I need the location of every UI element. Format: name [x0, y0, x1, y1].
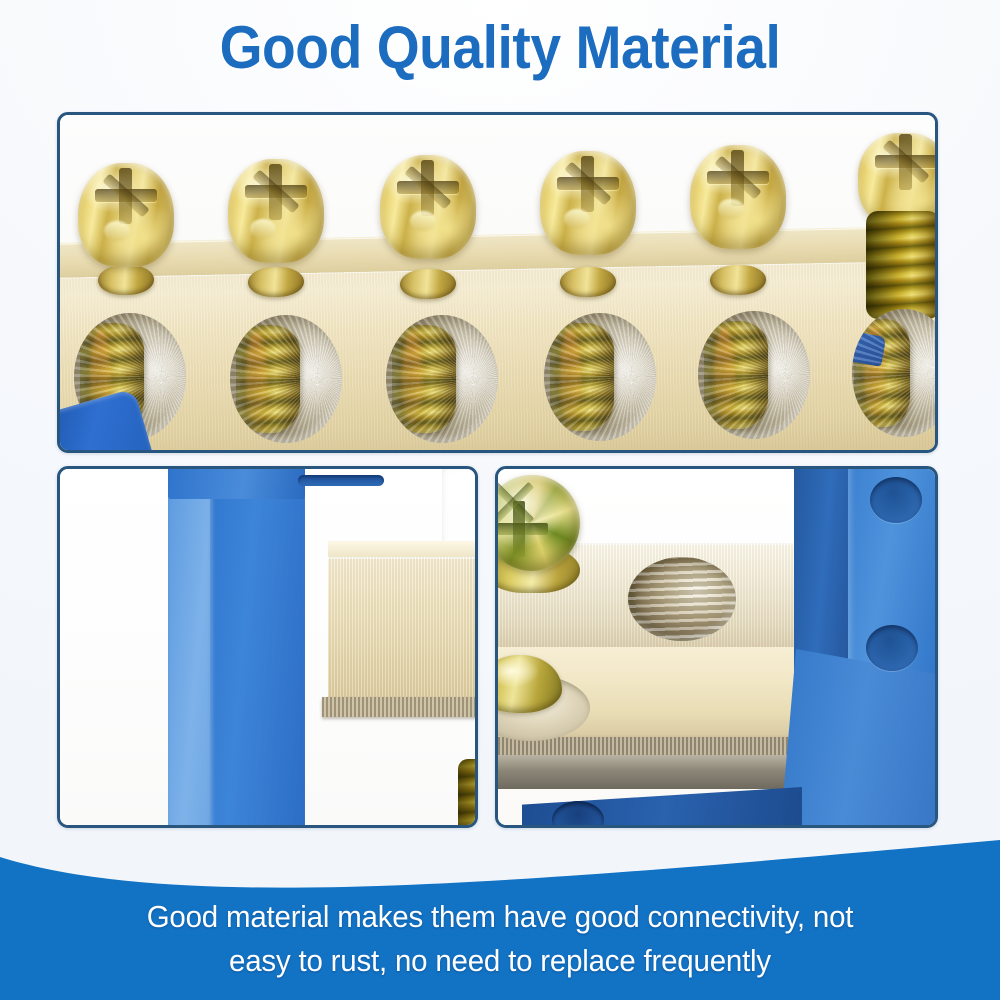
screw-thread-shank [236, 325, 300, 433]
blue-plastic-tower-cap [168, 469, 305, 499]
screw-head [380, 155, 476, 259]
phillips-cross-icon [95, 189, 157, 202]
blue-plastic-chip [852, 329, 886, 367]
screw-neck [560, 267, 617, 298]
bracket-groove [298, 475, 384, 486]
screw-neck [98, 265, 155, 296]
screw-neck [248, 267, 305, 298]
blue-plastic-tower-side [168, 473, 214, 825]
screw-neck [400, 269, 457, 300]
top-product-photo-panel [57, 112, 938, 453]
screw-neck [710, 265, 767, 296]
screw-highlight [250, 219, 276, 239]
brass-bar-face [328, 557, 475, 705]
bottom-left-product-photo-panel [57, 466, 478, 828]
brass-bar-shadow-edge [498, 755, 808, 789]
screw-head [540, 151, 636, 255]
screw-highlight [104, 221, 130, 241]
countersunk-hole [698, 311, 810, 439]
threaded-hole [628, 557, 736, 641]
screw-head [78, 163, 174, 267]
screw-thread-shank [392, 325, 456, 433]
mounting-dimple [870, 477, 922, 523]
footer-caption-line-2: easy to rust, no need to replace frequen… [25, 939, 975, 983]
countersunk-hole [386, 315, 498, 443]
countersunk-hole [230, 315, 342, 443]
blue-plastic-tower-front [210, 469, 305, 825]
phillips-cross-icon [707, 171, 769, 184]
phillips-cross-icon [557, 177, 619, 190]
screw-thread-shank [854, 319, 910, 427]
page-title: Good Quality Material [40, 14, 960, 82]
screw-thread-shank [550, 323, 614, 431]
phillips-cross-icon [245, 185, 307, 198]
screw-thread-shank [866, 211, 935, 319]
screw-head [228, 159, 324, 263]
countersunk-hole [544, 313, 656, 441]
bottom-right-product-photo-panel [495, 466, 938, 828]
brass-ground-bar-photo [60, 115, 935, 450]
screw-highlight [410, 211, 436, 231]
brass-bar-bottom-edge [322, 697, 475, 717]
product-feature-card: Good Quality Material [0, 0, 1000, 1000]
bracket-assembly-photo [60, 469, 475, 825]
screw-thread-shank [458, 759, 475, 825]
screw-head [690, 145, 786, 249]
phillips-cross-icon [875, 155, 935, 168]
footer-band: Good material makes them have good conne… [0, 835, 1000, 1000]
screw-thread-shank [704, 321, 768, 429]
screw-highlight [564, 209, 590, 229]
countersunk-hole [852, 309, 935, 437]
screw-highlight [718, 199, 744, 219]
mounting-dimple [866, 625, 918, 671]
threaded-hole-macro-photo [498, 469, 935, 825]
footer-caption-line-1: Good material makes them have good conne… [25, 895, 975, 939]
phillips-cross-icon [397, 181, 459, 194]
